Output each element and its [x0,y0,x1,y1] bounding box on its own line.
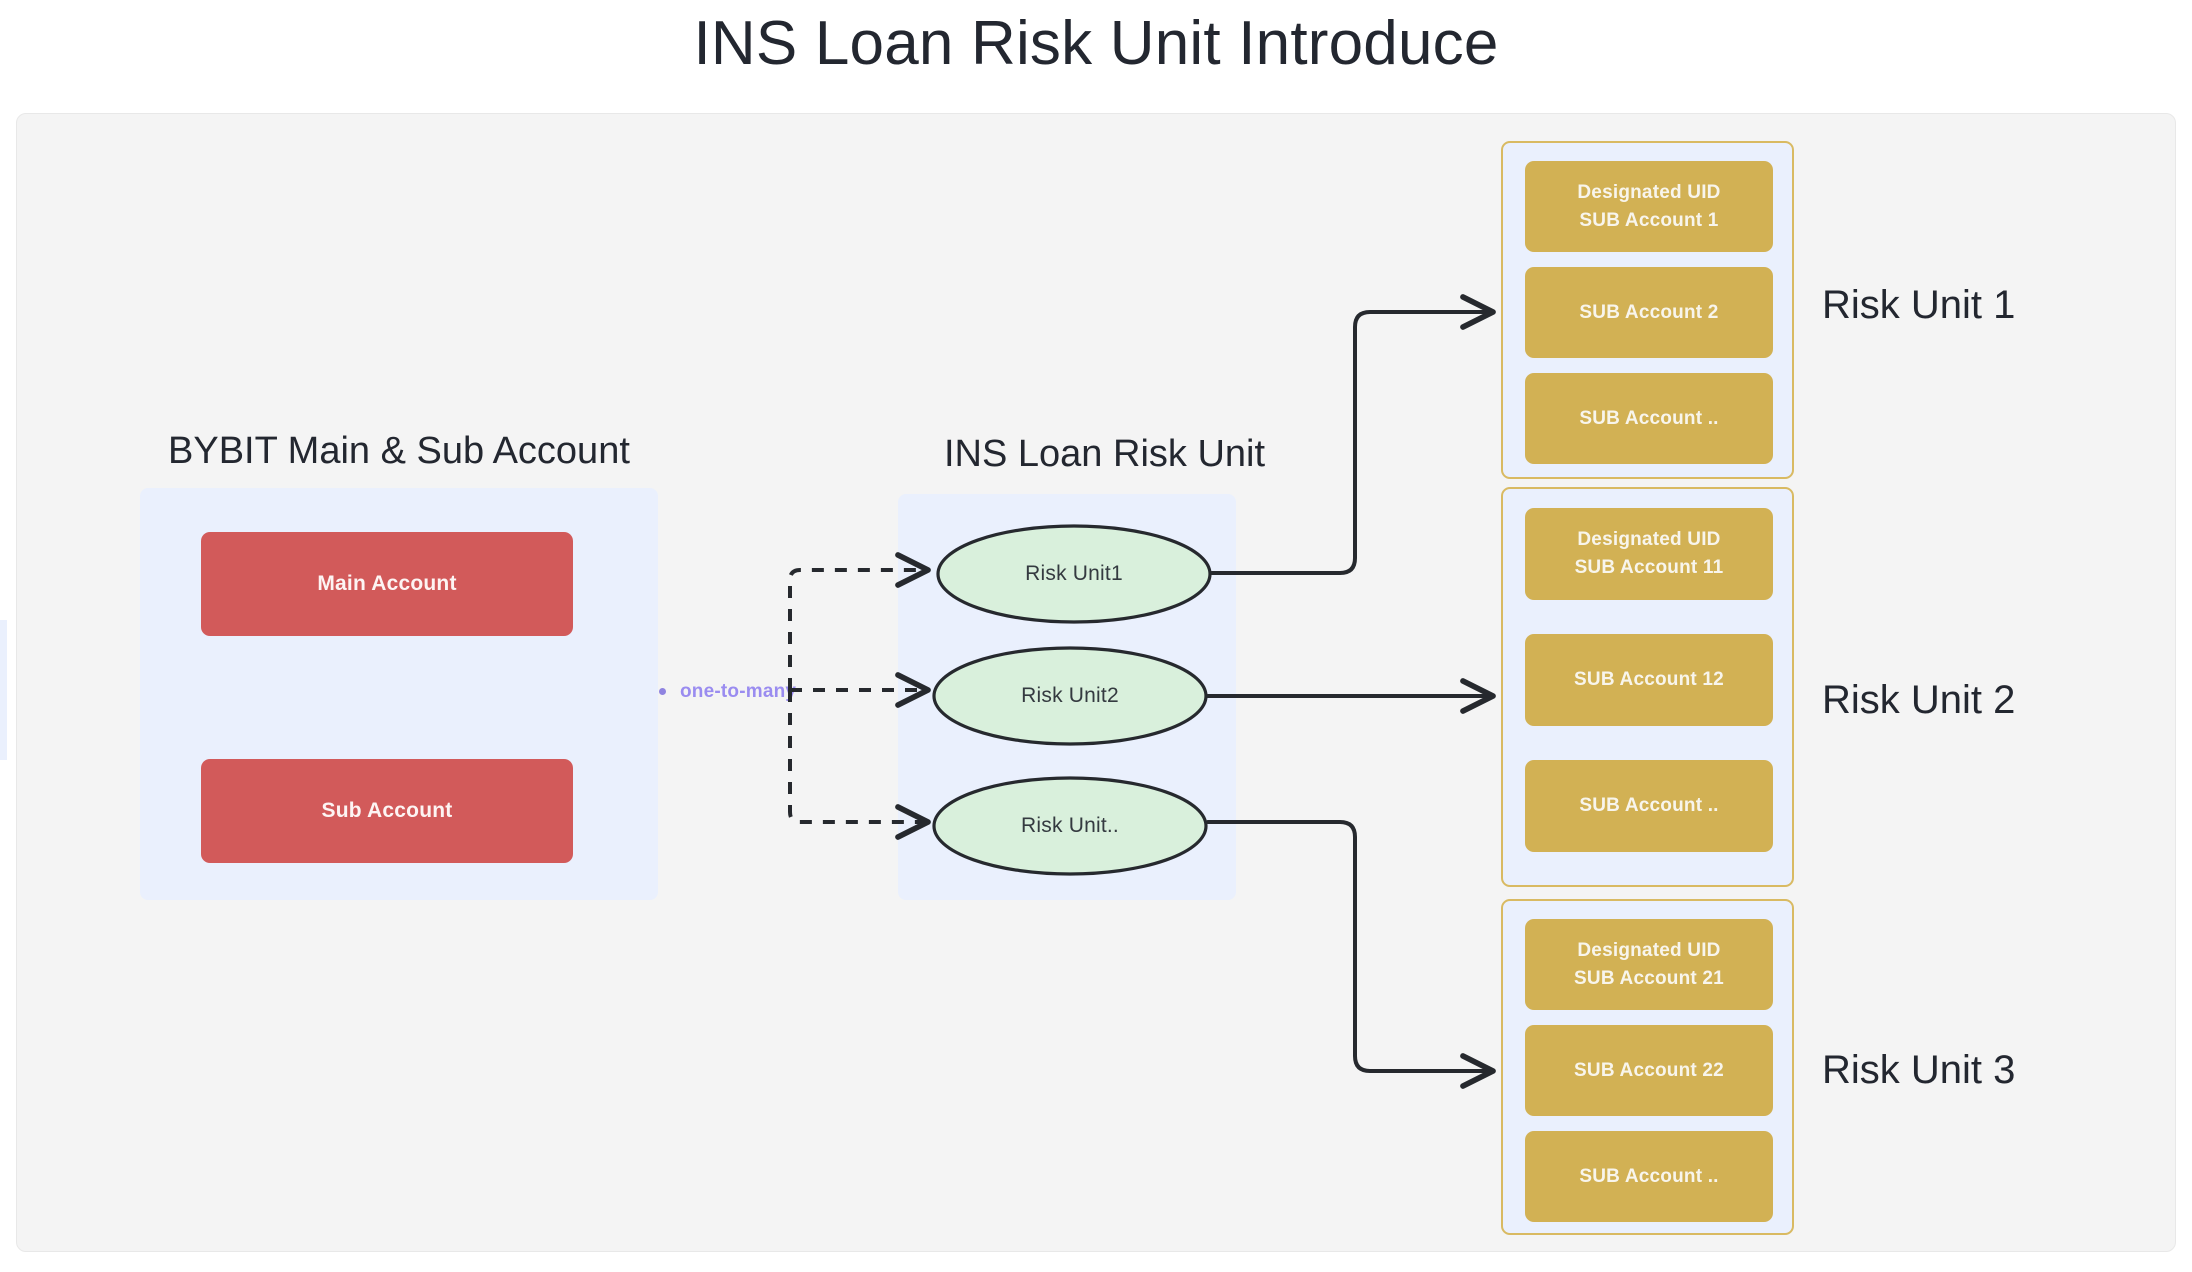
risk-unit-group-3: Designated UID SUB Account 21 SUB Accoun… [1501,899,1794,1235]
sub-account-line-2: SUB Account 11 [1575,554,1724,582]
risk-unit-group-2: Designated UID SUB Account 11 SUB Accoun… [1501,487,1794,887]
sub-account-line-1: SUB Account 22 [1574,1057,1724,1085]
sub-account-line-1: Designated UID [1577,526,1720,554]
sub-account-line-1: SUB Account 12 [1574,666,1724,694]
sub-account-line-2: SUB Account 21 [1574,965,1724,993]
sub-account-box[interactable]: Designated UID SUB Account 11 [1525,508,1773,600]
risk-unit-group-1: Designated UID SUB Account 1 SUB Account… [1501,141,1794,479]
sub-account-box[interactable]: Designated UID SUB Account 21 [1525,919,1773,1010]
sub-account-line-1: SUB Account 2 [1579,299,1718,327]
risk-unit-node-2[interactable]: Risk Unit2 [932,646,1208,746]
sub-account-box[interactable]: Designated UID SUB Account 1 [1525,161,1773,252]
sub-account-box[interactable]: SUB Account .. [1525,760,1773,852]
risk-unit-node-1[interactable]: Risk Unit1 [936,524,1212,624]
risk-unit-group-1-title: Risk Unit 1 [1822,283,2015,328]
risk-unit-node-3[interactable]: Risk Unit.. [932,776,1208,876]
sub-account-box[interactable]: SUB Account 22 [1525,1025,1773,1116]
sub-account-line-1: Designated UID [1577,937,1720,965]
middle-column-caption: INS Loan Risk Unit [944,433,1265,476]
sub-account-line-1: SUB Account .. [1579,792,1718,820]
page-title: INS Loan Risk Unit Introduce [0,0,2192,92]
diagram-canvas: INS Loan Risk Unit Introduce BYBIT Main … [0,0,2192,1272]
sub-account-box[interactable]: SUB Account .. [1525,1131,1773,1222]
sub-account-box[interactable]: Sub Account [201,759,573,863]
sub-account-line-1: Designated UID [1577,179,1720,207]
relationship-dot-icon [659,688,666,695]
sub-account-box[interactable]: SUB Account 12 [1525,634,1773,726]
edge-sliver [0,620,7,760]
sub-account-line-1: SUB Account .. [1579,1163,1718,1191]
sub-account-box[interactable]: SUB Account 2 [1525,267,1773,358]
risk-unit-group-2-title: Risk Unit 2 [1822,678,2015,723]
left-column-caption: BYBIT Main & Sub Account [168,430,630,473]
sub-account-box[interactable]: SUB Account .. [1525,373,1773,464]
relationship-label: one-to-many [680,681,796,703]
sub-account-line-1: SUB Account .. [1579,405,1718,433]
main-account-box[interactable]: Main Account [201,532,573,636]
sub-account-line-2: SUB Account 1 [1579,207,1718,235]
risk-unit-group-3-title: Risk Unit 3 [1822,1048,2015,1093]
